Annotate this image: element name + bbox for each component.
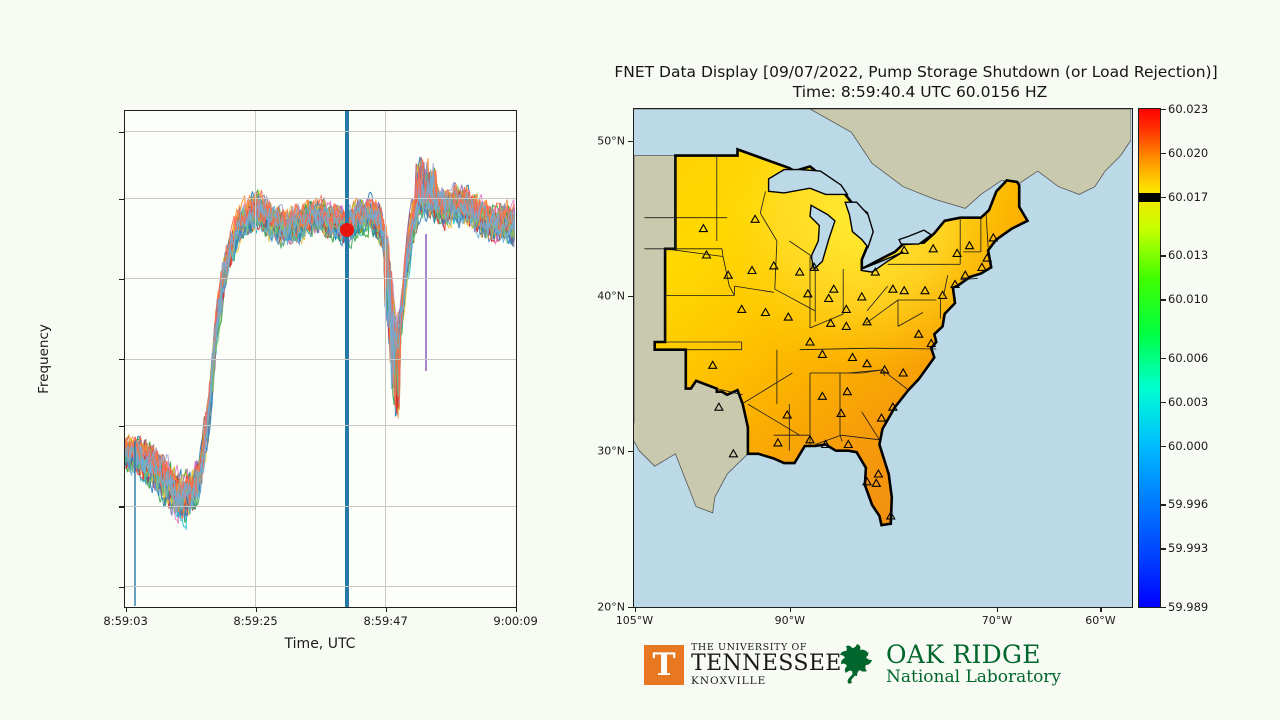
lon-tick-label: 70°W [982,614,1012,627]
ut-wordmark-line2: TENNESSEE [691,653,842,675]
grid-line-horizontal [125,278,516,279]
lat-tick-label: 20°N [597,600,625,613]
map-title-line2: Time: 8:59:40.4 UTC 60.0156 HZ [560,82,1280,102]
ornl-wordmark-line1: OAK RIDGE [886,642,1061,668]
grid-line-horizontal [125,506,516,507]
colorbar[interactable] [1138,108,1161,608]
map-title-line1: FNET Data Display [09/07/2022, Pump Stor… [560,62,1280,82]
x-tick-label: 8:59:47 [363,614,407,628]
ut-wordmark-line3: KNOXVILLE [691,675,842,688]
x-tick-label: 8:59:25 [233,614,277,628]
lon-tick-label: 105°W [616,614,653,627]
map-panel: FNET Data Display [09/07/2022, Pump Stor… [560,0,1280,720]
oak-ridge-national-laboratory-logo: OAK RIDGE National Laboratory [838,642,1061,687]
lon-tick-label: 60°W [1085,614,1115,627]
y-tick-mark [119,426,124,427]
x-tick-label: 8:59:03 [103,614,147,628]
x-tick-mark [256,607,257,612]
frequency-time-series-panel: Frequency Time, UTC 60.02360.01860.01260… [0,0,560,720]
y-axis-label: Frequency [36,324,52,394]
ornl-wordmark-line2: National Laboratory [886,668,1061,687]
lat-tick-label: 50°N [597,134,625,147]
lon-tick-mark [1100,607,1101,612]
lon-tick-mark [635,607,636,612]
lat-tick-label: 30°N [597,445,625,458]
lon-tick-mark [997,607,998,612]
y-tick-mark [119,506,124,507]
lat-tick-mark [628,296,633,297]
map-graphics [634,109,1131,606]
university-of-tennessee-logo: T THE UNIVERSITY OF TENNESSEE KNOXVILLE [644,642,842,688]
lat-tick-mark [628,607,633,608]
lon-tick-mark [790,607,791,612]
colorbar-black-band [1139,193,1160,202]
y-tick-mark [119,587,124,588]
x-tick-label: 9:00:09 [493,614,537,628]
ornl-wordmark: OAK RIDGE National Laboratory [886,642,1061,687]
x-axis-label: Time, UTC [285,636,356,652]
lat-tick-mark [628,141,633,142]
map-title: FNET Data Display [09/07/2022, Pump Stor… [560,62,1280,102]
lat-tick-mark [628,451,633,452]
lon-tick-label: 90°W [775,614,805,627]
y-tick-mark [119,279,124,280]
grid-line-horizontal [125,131,516,132]
grid-line-horizontal [125,425,516,426]
contour-map-area[interactable] [633,108,1133,608]
grid-line-vertical [255,111,256,607]
grid-line-horizontal [125,586,516,587]
y-tick-mark [119,132,124,133]
ut-power-t-glyph: T [652,650,675,681]
ut-wordmark: THE UNIVERSITY OF TENNESSEE KNOXVILLE [691,642,842,688]
x-tick-mark [126,607,127,612]
x-tick-mark [516,607,517,612]
grid-line-horizontal [125,198,516,199]
oak-leaf-icon [838,644,884,686]
logo-row: T THE UNIVERSITY OF TENNESSEE KNOXVILLE … [560,636,1280,700]
lat-tick-label: 40°N [597,289,625,302]
grid-line-horizontal [125,359,516,360]
line-plot-area[interactable] [124,110,517,608]
grid-line-vertical [385,111,386,607]
cursor-value-marker [340,223,354,237]
colorbar-gradient [1139,109,1160,607]
ut-power-t-icon: T [644,645,684,685]
y-tick-mark [119,359,124,360]
x-tick-mark [386,607,387,612]
y-tick-mark [119,199,124,200]
